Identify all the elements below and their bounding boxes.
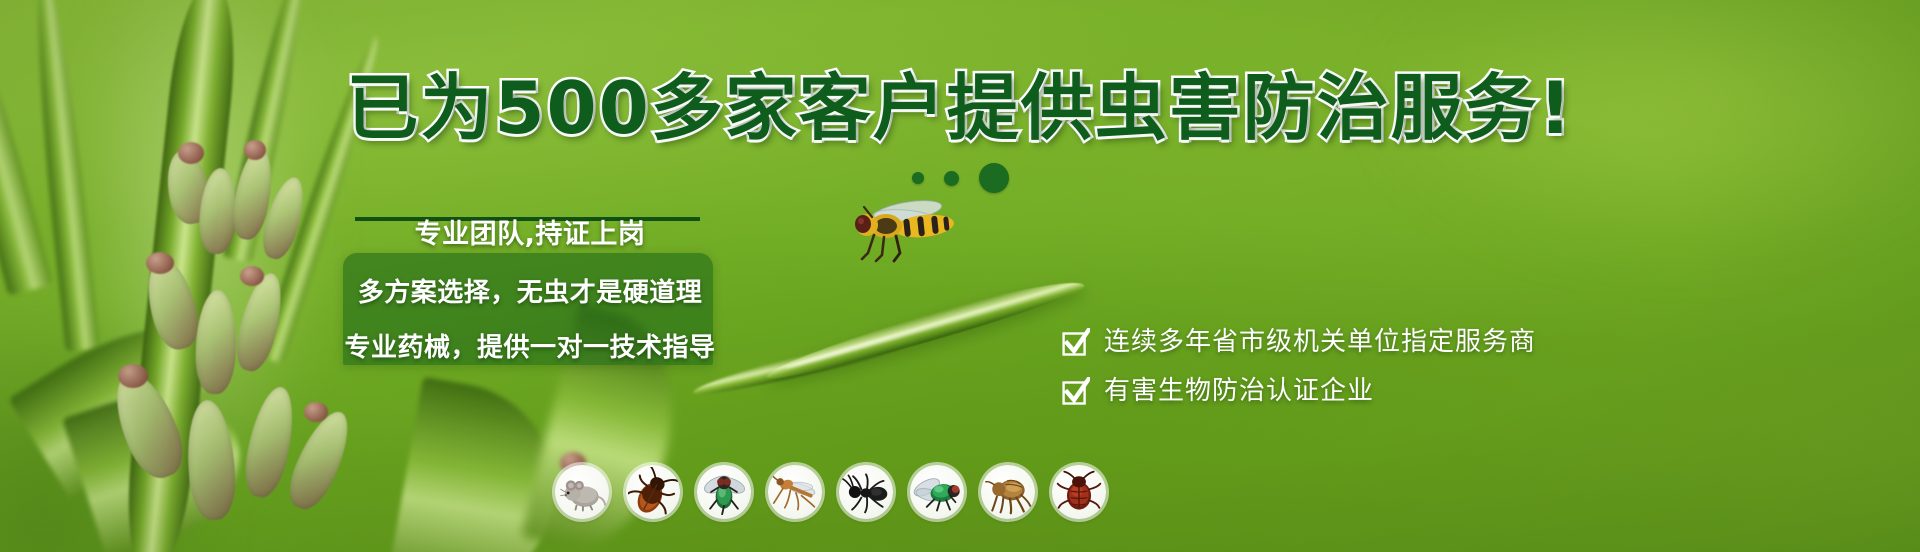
- decorative-dot-large: [979, 163, 1009, 193]
- decorative-dot-medium: [944, 171, 959, 186]
- blowfly-icon[interactable]: [910, 465, 964, 519]
- pest-control-banner: 已为500多家客户提供虫害防治服务! 专业团队,持证上岗 多方案选择，无虫才是硬…: [0, 0, 1920, 552]
- checkbox-checked-icon: [1062, 328, 1090, 356]
- checklist-item-label: 有害生物防治认证企业: [1104, 378, 1374, 404]
- page-title: 已为500多家客户提供虫害防治服务!: [0, 72, 1920, 144]
- mosquito-icon[interactable]: [768, 465, 822, 519]
- flea-icon[interactable]: [981, 465, 1035, 519]
- selling-point-3: 专业药械，提供一对一技术指导: [344, 327, 715, 364]
- checkbox-checked-icon: [1062, 377, 1090, 405]
- mouse-icon[interactable]: [555, 465, 609, 519]
- page-title-text: 已为500多家客户提供虫害防治服务!: [346, 66, 1573, 150]
- bedbug-icon[interactable]: [1052, 465, 1106, 519]
- decorative-dot-small: [912, 172, 924, 184]
- decorative-dots: [0, 163, 1920, 193]
- pest-type-list: [555, 465, 1106, 519]
- credentials-checklist: 连续多年省市级机关单位指定服务商 有害生物防治认证企业: [1062, 328, 1536, 405]
- checklist-item-label: 连续多年省市级机关单位指定服务商: [1104, 329, 1536, 355]
- fly-icon[interactable]: [697, 465, 751, 519]
- ant-icon[interactable]: [839, 465, 893, 519]
- cockroach-icon[interactable]: [626, 465, 680, 519]
- selling-points-list: 专业团队,持证上岗 多方案选择，无虫才是硬道理 专业药械，提供一对一技术指导: [340, 212, 720, 364]
- selling-point-1: 专业团队,持证上岗: [415, 212, 646, 251]
- checklist-item: 有害生物防治认证企业: [1062, 377, 1536, 405]
- selling-point-2: 多方案选择，无虫才是硬道理: [358, 272, 703, 309]
- checklist-item: 连续多年省市级机关单位指定服务商: [1062, 328, 1536, 356]
